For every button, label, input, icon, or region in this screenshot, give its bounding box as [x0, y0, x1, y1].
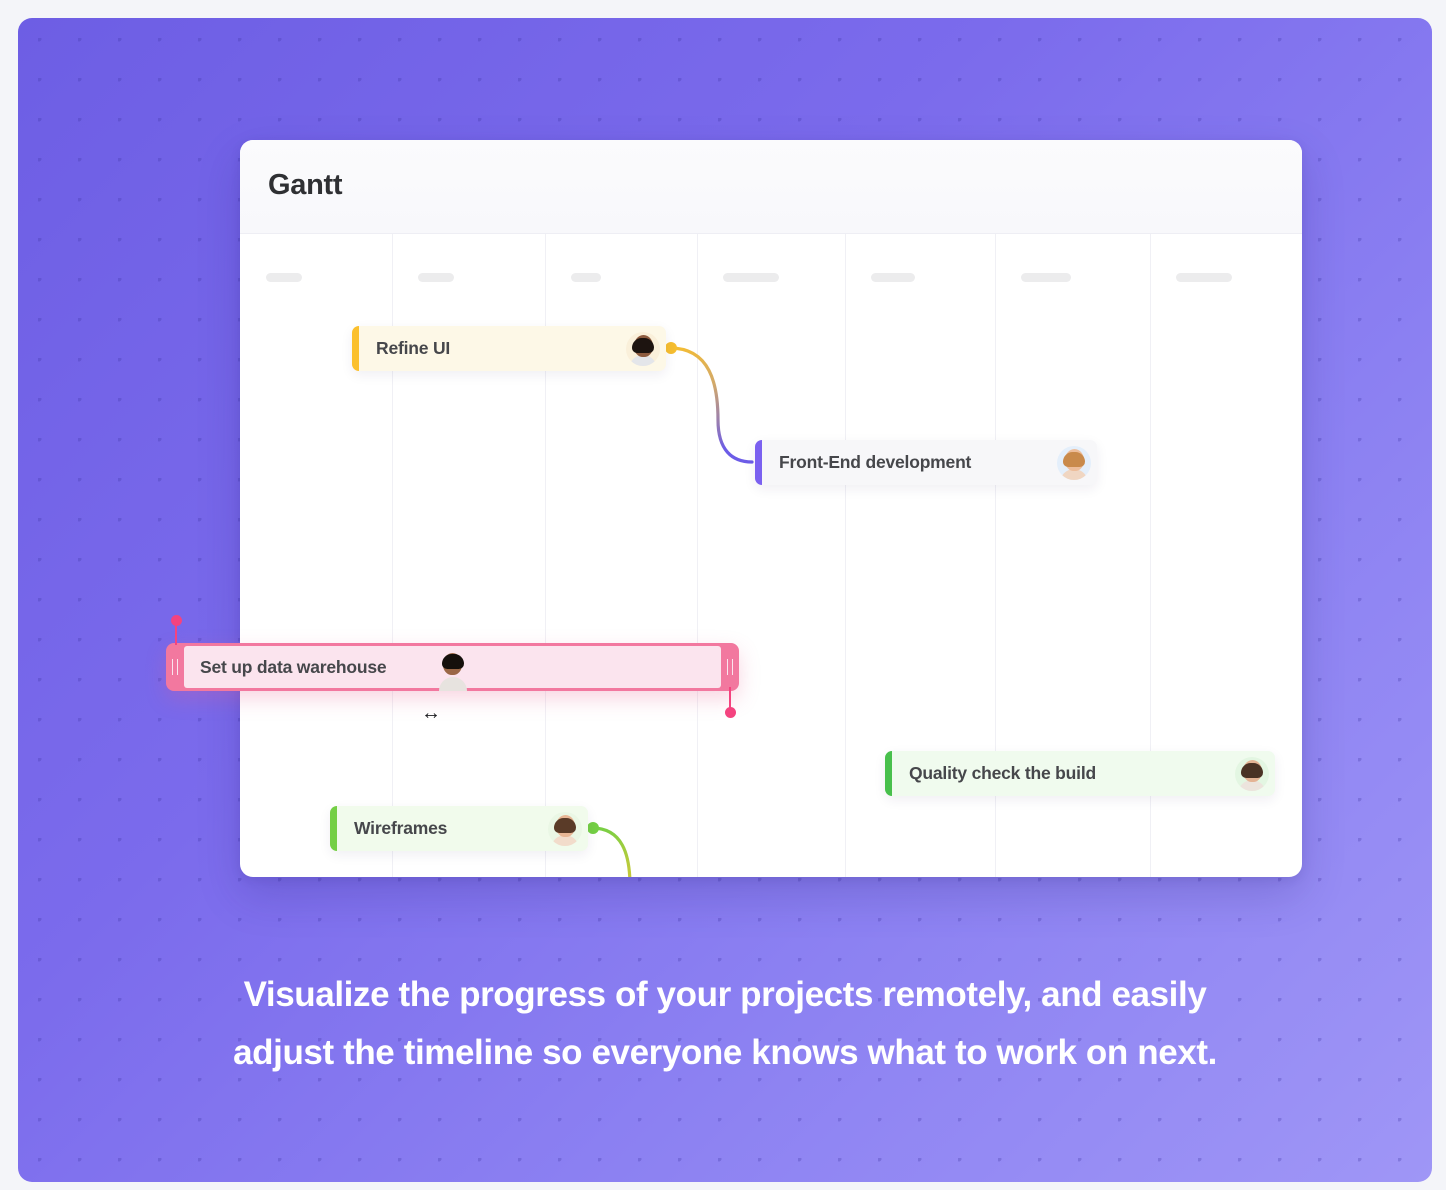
column-header-skeleton	[571, 273, 601, 282]
task-bar-quality-check-the-build[interactable]: Quality check the build	[885, 751, 1275, 796]
resize-handle-start[interactable]	[166, 643, 184, 691]
column-header-skeleton	[871, 273, 915, 282]
task-accent-quality-check-the-build	[885, 751, 892, 796]
page-title: Gantt	[268, 169, 342, 202]
task-bar-front-end-development[interactable]: Front-End development	[755, 440, 1097, 485]
task-accent-wireframes	[330, 806, 337, 851]
hero-background-panel: Gantt R	[18, 18, 1432, 1182]
task-accent-front-end-development	[755, 440, 762, 485]
column-header-skeleton	[418, 273, 454, 282]
gridline	[697, 234, 698, 877]
column-header-skeleton	[266, 273, 302, 282]
column-header-skeleton	[723, 273, 779, 282]
task-bar-set-up-data-warehouse[interactable]: Set up data warehouse	[166, 643, 739, 691]
resize-cursor-icon: ↔	[421, 703, 441, 723]
selected-task-body[interactable]: Set up data warehouse	[184, 646, 721, 688]
card-header: Gantt	[240, 140, 1302, 234]
task-accent-refine-ui	[352, 326, 359, 371]
caption-line-1: Visualize the progress of your projects …	[108, 966, 1342, 1024]
hero-caption: Visualize the progress of your projects …	[18, 966, 1432, 1082]
column-header-skeleton	[1176, 273, 1232, 282]
gridline	[845, 234, 846, 877]
column-header-skeleton	[1021, 273, 1071, 282]
avatar-wireframes[interactable]	[548, 812, 582, 846]
avatar-front-end[interactable]	[1057, 446, 1091, 480]
task-label-refine-ui: Refine UI	[376, 338, 450, 359]
resize-handle-end[interactable]	[721, 643, 739, 691]
milestone-dot-start[interactable]	[171, 615, 182, 626]
task-label-quality-check-the-build: Quality check the build	[909, 763, 1096, 784]
avatar-refine-ui[interactable]	[626, 332, 660, 366]
task-label-wireframes: Wireframes	[354, 818, 447, 839]
task-bar-refine-ui[interactable]: Refine UI	[352, 326, 666, 371]
task-bar-wireframes[interactable]: Wireframes	[330, 806, 588, 851]
milestone-dot-end[interactable]	[725, 707, 736, 718]
task-label-front-end-development: Front-End development	[779, 452, 971, 473]
avatar-quality-check[interactable]	[1235, 757, 1269, 791]
gantt-card: Gantt R	[240, 140, 1302, 877]
caption-line-2: adjust the timeline so everyone knows wh…	[108, 1024, 1342, 1082]
